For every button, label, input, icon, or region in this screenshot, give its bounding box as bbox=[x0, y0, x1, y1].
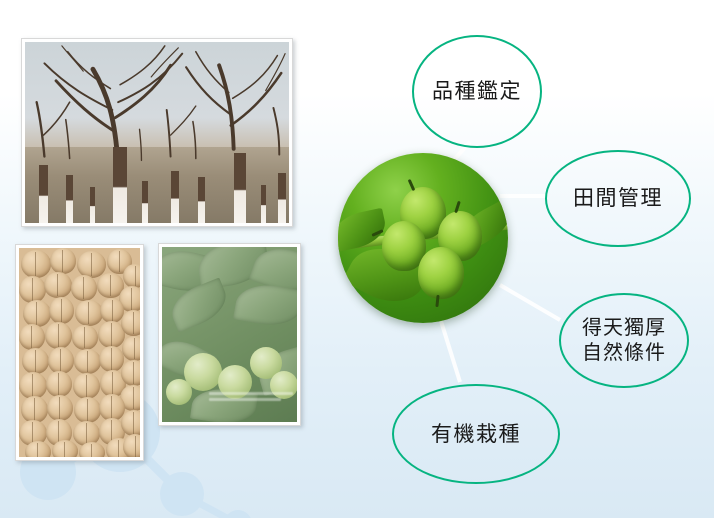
orchard-trunk bbox=[142, 181, 148, 223]
walnut-pile bbox=[19, 248, 140, 457]
orchard-trunk bbox=[171, 171, 179, 223]
center-walnut-photo bbox=[338, 153, 508, 323]
callout-ring-variety-identification[interactable]: 品種鑑定 bbox=[412, 35, 542, 148]
photo-dried-walnuts-pile bbox=[15, 244, 144, 461]
slide-canvas: 品種鑑定 田間管理 得天獨厚 自然條件 有機栽種 bbox=[0, 0, 714, 518]
callout-ring-field-management[interactable]: 田間管理 bbox=[545, 150, 691, 247]
photo-watermark bbox=[209, 392, 293, 410]
orchard-trunk bbox=[90, 187, 95, 223]
photo-walnut-orchard-winter bbox=[21, 38, 293, 227]
orchard-trunk bbox=[198, 177, 205, 223]
orchard-trunk bbox=[113, 147, 127, 223]
orchard-trunk bbox=[234, 153, 246, 223]
callout-ring-organic-cultivation[interactable]: 有機栽種 bbox=[392, 384, 560, 484]
walnut-stem bbox=[435, 295, 439, 307]
photo-green-walnuts-on-tree bbox=[158, 243, 301, 426]
callout-label: 得天獨厚 自然條件 bbox=[582, 316, 666, 366]
walnut-fruit bbox=[418, 247, 464, 299]
orchard-trunk bbox=[261, 185, 266, 223]
callout-ring-natural-conditions[interactable]: 得天獨厚 自然條件 bbox=[559, 293, 689, 388]
orchard-trunk bbox=[278, 173, 286, 223]
callout-label: 田間管理 bbox=[573, 185, 663, 211]
orchard-trunk bbox=[39, 165, 48, 223]
callout-label: 有機栽種 bbox=[431, 421, 521, 447]
orchard-trunk bbox=[66, 175, 73, 223]
callout-label: 品種鑑定 bbox=[432, 78, 522, 104]
orchard-branches bbox=[25, 42, 289, 223]
walnut-stem bbox=[408, 179, 416, 191]
